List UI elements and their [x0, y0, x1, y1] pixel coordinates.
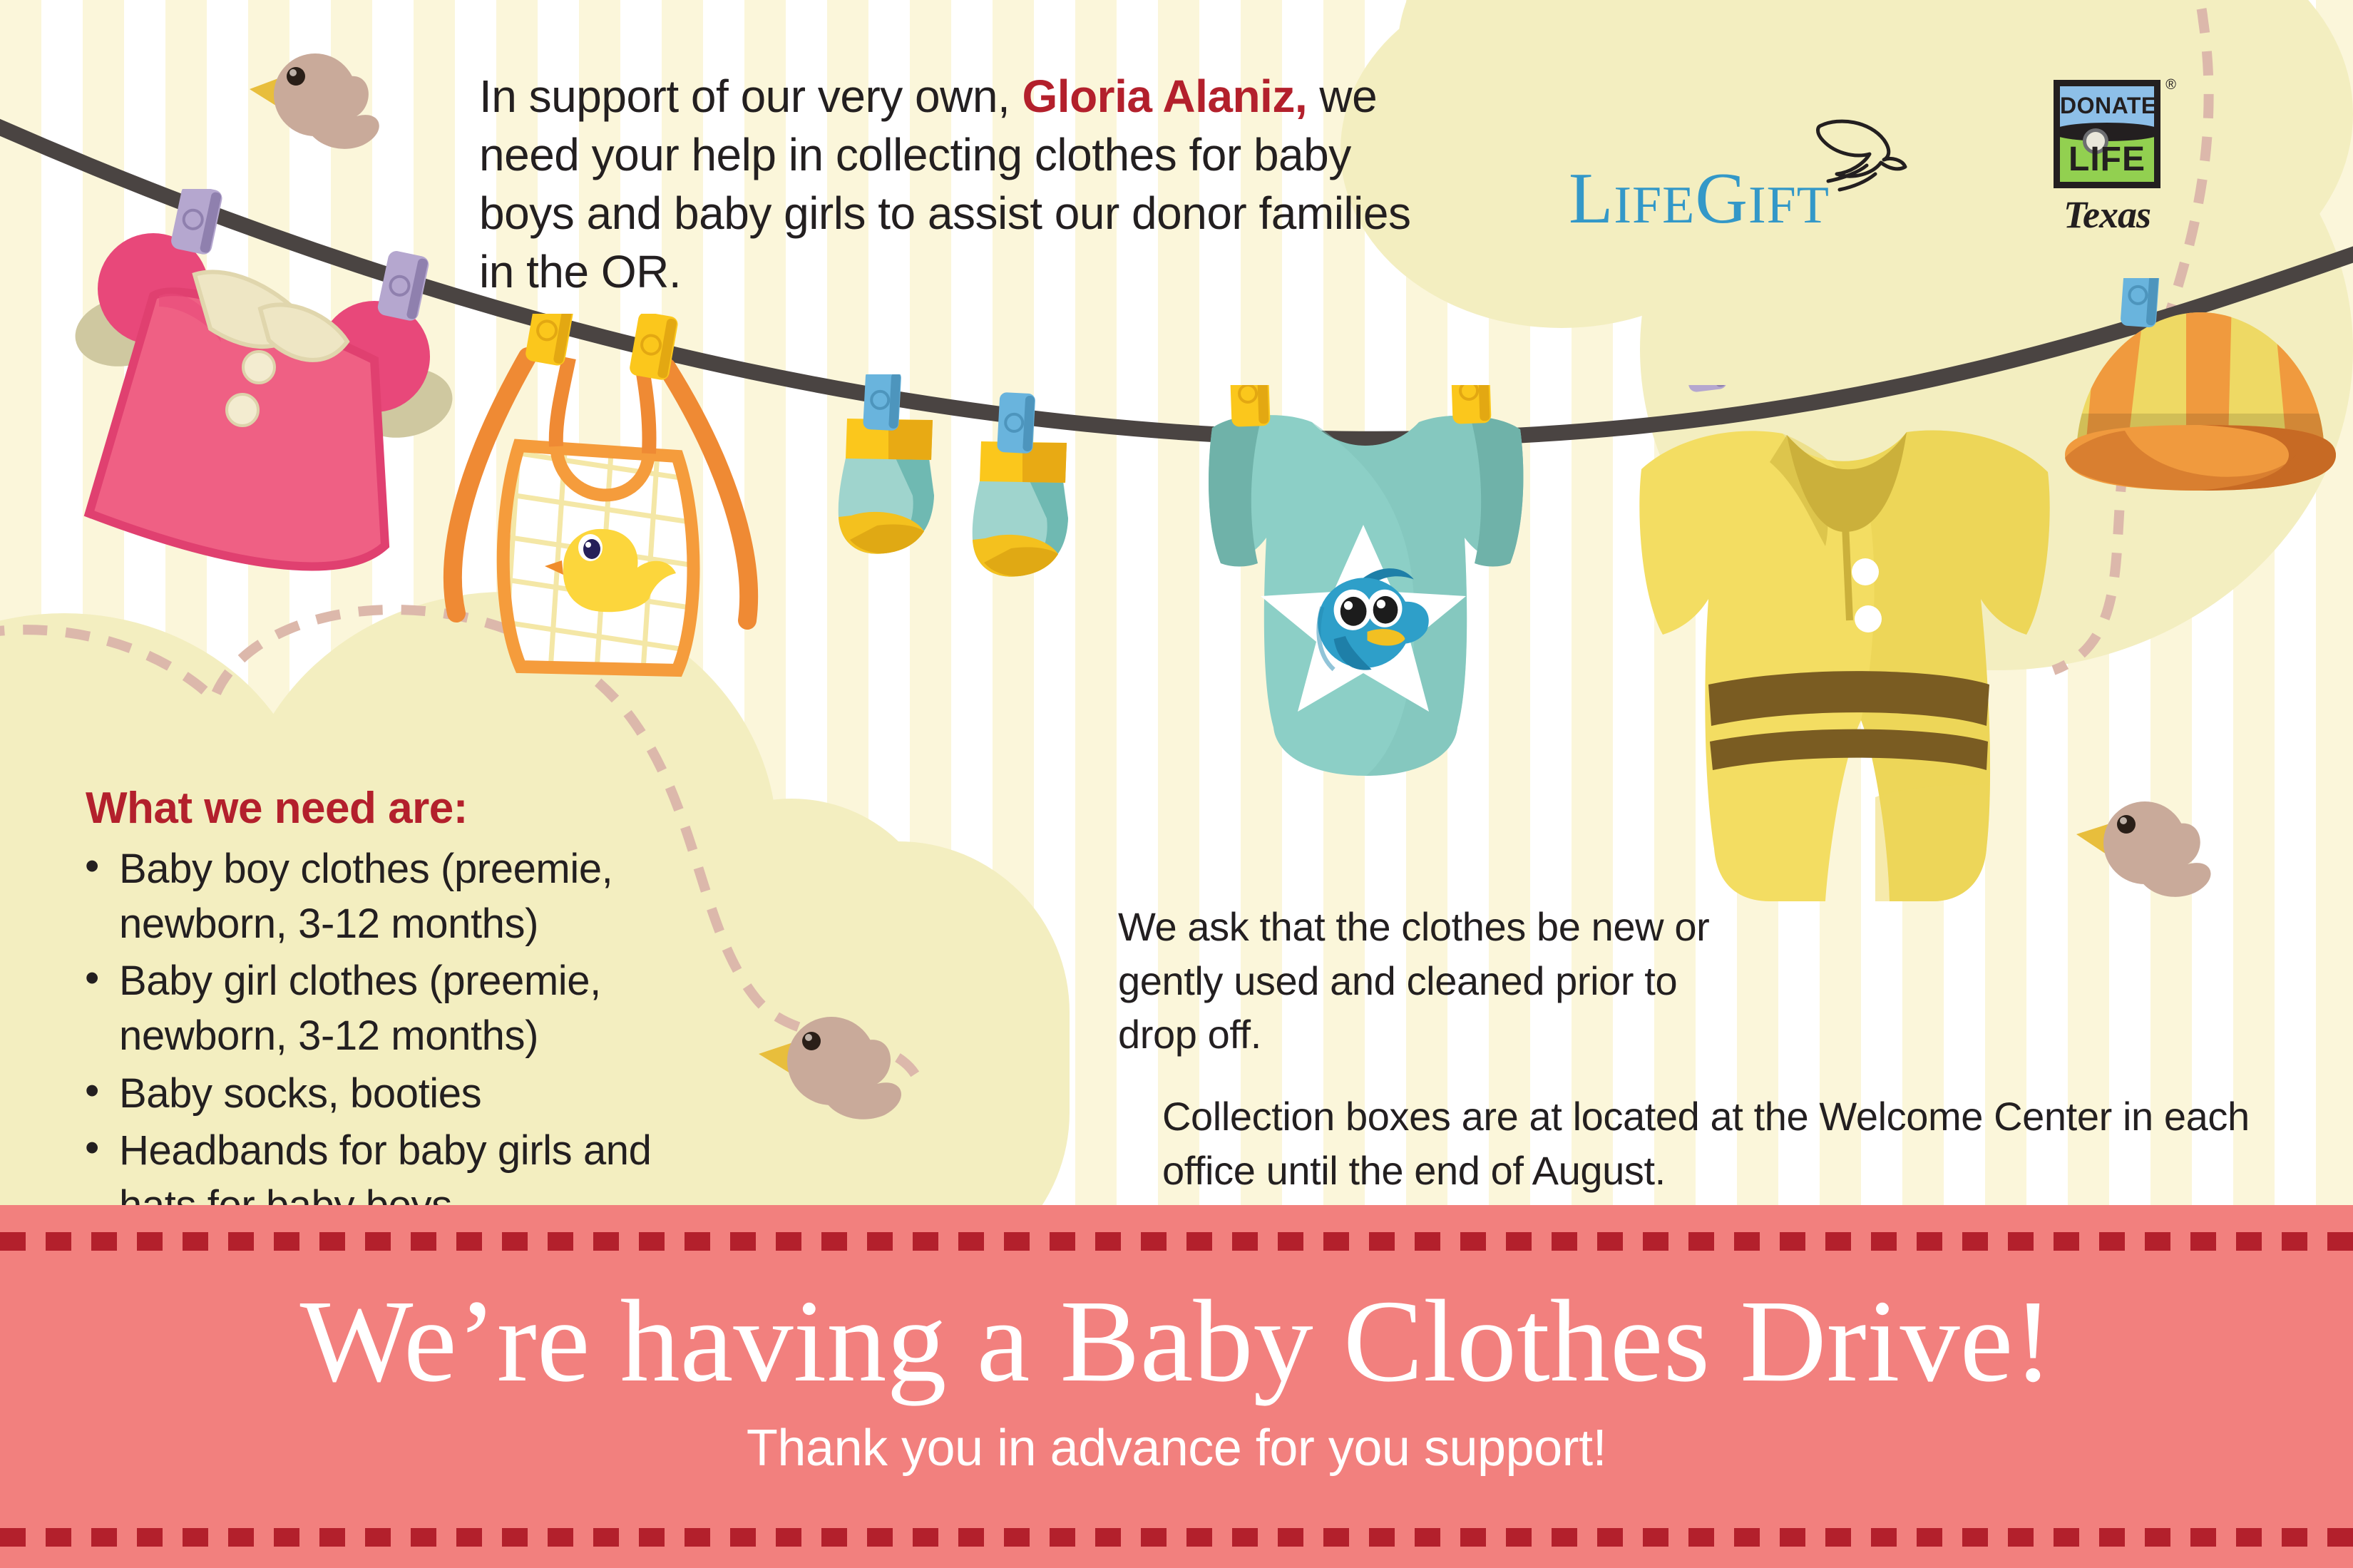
bottom-banner: We’re having a Baby Clothes Drive! Thank… [0, 1205, 2353, 1568]
list-item: •Baby boy clothes (preemie, newborn, 3-1… [75, 841, 717, 951]
teal-onesie-with-bird-star [1169, 385, 1554, 849]
list-item-text: Baby boy clothes (preemie, newborn, 3-12… [119, 846, 612, 947]
lifegift-G: G [1695, 158, 1748, 239]
list-item: •Baby socks, booties [75, 1066, 717, 1121]
list-item-text: Baby socks, booties [119, 1070, 481, 1117]
donate-word: DONATE [2060, 93, 2154, 119]
lifegift-logo: LIFEGIFT [1569, 128, 1982, 250]
orange-striped-hat [2054, 278, 2346, 513]
bird-top-left [228, 32, 406, 164]
pink-dress [68, 189, 467, 645]
clothes-condition-text: We ask that the clothes be new or gently… [1118, 900, 1760, 1062]
bullet-glyph: • [85, 1063, 99, 1118]
collection-box-text: Collection boxes are at located at the W… [1162, 1090, 2303, 1197]
texas-script: Texas [2064, 193, 2150, 237]
lifegift-IFE: IFE [1614, 176, 1695, 235]
teal-socks [827, 374, 1098, 610]
list-item: •Baby girl clothes (preemie, newborn, 3-… [75, 953, 717, 1063]
bullet-glyph: • [85, 950, 99, 1005]
needs-title: What we need are: [86, 783, 468, 834]
bird-bottom-left [742, 998, 934, 1141]
bullet-glyph: • [85, 1120, 99, 1175]
registered-mark: ® [2165, 77, 2176, 93]
lifegift-wordmark: LIFEGIFT [1569, 163, 1830, 235]
list-item-text: Baby girl clothes (preemie, newborn, 3-1… [119, 958, 601, 1059]
intro-paragraph: In support of our very own, Gloria Alani… [479, 68, 1420, 302]
donate-life-texas-logo: DONATE LIFE ® Texas [2054, 80, 2160, 188]
lifegift-L: L [1569, 158, 1614, 239]
orange-bib-with-duck [414, 314, 784, 685]
needs-list: •Baby boy clothes (preemie, newborn, 3-1… [75, 841, 717, 1235]
poster-canvas: In support of our very own, Gloria Alani… [0, 0, 2353, 1568]
bullet-glyph: • [85, 839, 99, 893]
banner-dashed-border-bottom [0, 1528, 2353, 1547]
intro-before: In support of our very own, [479, 71, 1022, 122]
life-word: LIFE [2060, 140, 2154, 179]
banner-dashed-border-top [0, 1232, 2353, 1251]
banner-subline: Thank you in advance for you support! [0, 1419, 2353, 1477]
honoree-name: Gloria Alaniz, [1022, 71, 1308, 122]
lifegift-IFT: IFT [1748, 176, 1830, 235]
banner-headline: We’re having a Baby Clothes Drive! [0, 1282, 2353, 1400]
donate-life-badge: DONATE LIFE [2054, 80, 2160, 188]
